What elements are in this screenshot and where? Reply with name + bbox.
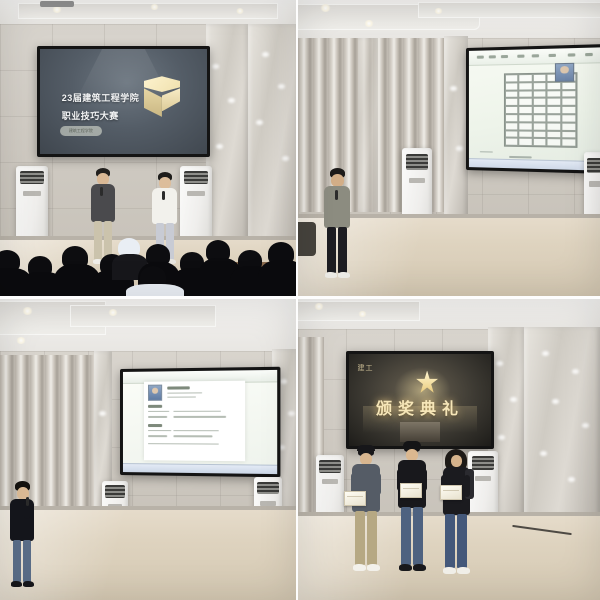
foreground-object: [298, 222, 316, 256]
resume-avatar: [148, 385, 162, 401]
projection-screen-3[interactable]: [120, 367, 280, 478]
cap-icon: [403, 441, 421, 447]
slide-spreadsheet: [469, 47, 600, 171]
stage-floor: [0, 508, 296, 600]
document-photo-cell: [555, 63, 574, 83]
photo-collage: 23届建筑工程学院 职业技巧大赛 建筑工程学院: [0, 0, 600, 600]
audience: [0, 222, 296, 296]
person-presenter: [322, 168, 352, 280]
ceiling: [0, 299, 296, 357]
panel-award-ceremony[interactable]: 建工 颁奖典礼: [298, 299, 600, 600]
slide-title: 23届建筑工程学院 职业技巧大赛 建筑工程学院: [40, 49, 207, 154]
award-title: 颁奖典礼: [349, 395, 491, 419]
slide-resume: [123, 370, 277, 474]
wall-pillar-right: [524, 327, 600, 522]
slide-award: 建工 颁奖典礼: [349, 354, 491, 446]
slide-logo: 建工: [358, 363, 374, 373]
cap-icon: [357, 445, 375, 451]
ceiling-projector: [40, 1, 74, 7]
slide-line2: 职业技巧大赛: [62, 109, 119, 122]
slide-badge: 建筑工程学院: [60, 126, 102, 137]
panel-opening-ceremony[interactable]: 23届建筑工程学院 职业技巧大赛 建筑工程学院: [0, 0, 298, 299]
projection-screen-4[interactable]: 建工 颁奖典礼: [346, 351, 494, 449]
wall-pillar-left: [206, 24, 248, 248]
certificate: [344, 491, 366, 506]
projection-screen-1[interactable]: 23届建筑工程学院 职业技巧大赛 建筑工程学院: [37, 46, 210, 157]
wall-pillar-right: [248, 24, 296, 248]
person-winner-3: [440, 449, 472, 579]
slide-cube-graphic: [140, 76, 183, 122]
photo-bottom-left: [0, 299, 296, 600]
curtain-pillar: [358, 38, 378, 212]
panel-resume-walkthrough[interactable]: [0, 299, 298, 600]
person-winner-2: [396, 443, 428, 577]
panel-resume-presentation[interactable]: [298, 0, 600, 299]
slide-line1: 23届建筑工程学院: [62, 91, 140, 104]
person-winner-1: [350, 447, 382, 575]
photo-top-left: 23届建筑工程学院 职业技巧大赛 建筑工程学院: [0, 0, 296, 296]
resume-page: [144, 381, 246, 462]
photo-bottom-right: 建工 颁奖典礼: [298, 299, 600, 600]
certificate: [400, 483, 422, 498]
projection-screen-2[interactable]: [466, 44, 600, 174]
photo-top-right: [298, 0, 600, 296]
wall-pillar-center: [444, 36, 468, 218]
certificate: [440, 485, 462, 500]
person-presenter: [8, 481, 36, 589]
